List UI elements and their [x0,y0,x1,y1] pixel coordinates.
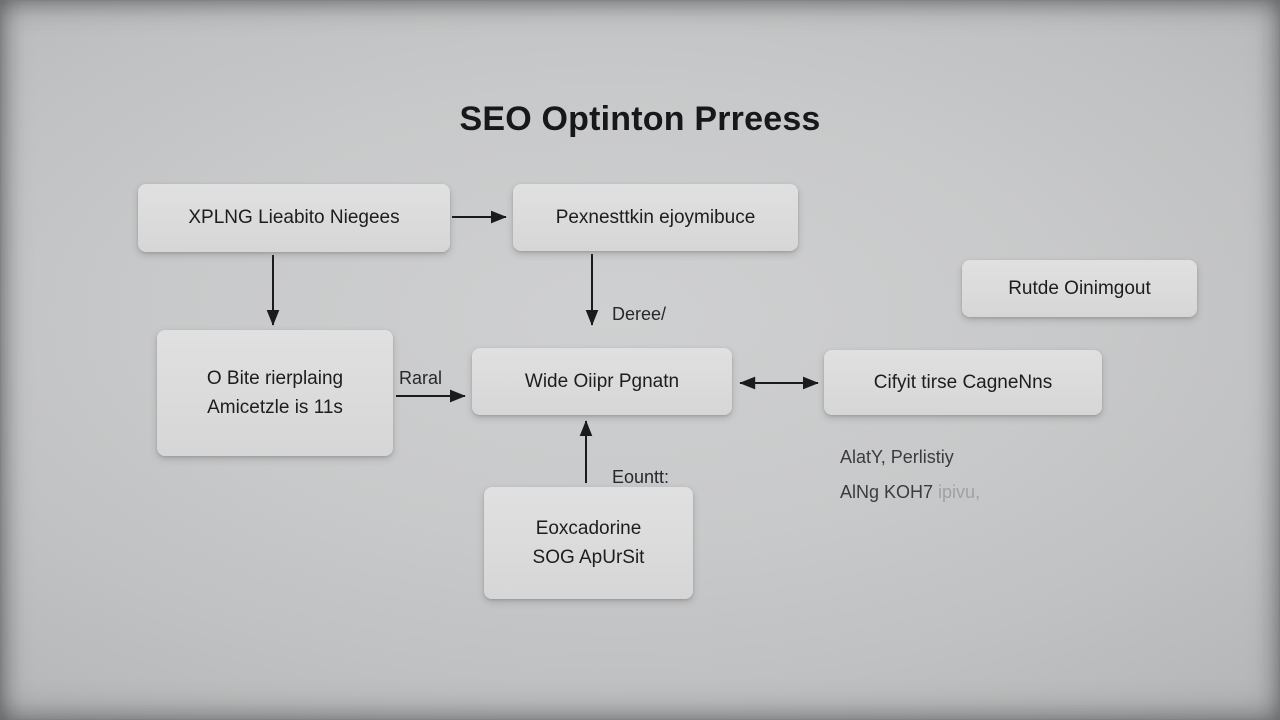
node-side-optimization[interactable]: Rutde Oinimgout [962,260,1197,317]
node-label-line-1: O Bite rierplaing [207,364,343,393]
node-keyword-research[interactable]: XPLNG Lieabito Niegees [138,184,450,252]
edge-label-deree: Deree/ [612,304,666,325]
float-text-line-2: AlNg KOH7 ipivu, [840,475,980,510]
node-backlinks[interactable]: Eoxcadorine SOG ApUrSit [484,487,693,599]
node-main-process[interactable]: Wide Oiipr Pgnatn [472,348,732,415]
node-content-audit[interactable]: Pexnesttkin ejoymibuce [513,184,798,251]
edge-label-eountt: Eountt: [612,467,669,488]
float-text-notes: AlatY, Perlistiy AlNg KOH7 ipivu, [840,440,980,510]
page-title: SEO Optinton Prreess [0,100,1280,139]
node-label: XPLNG Lieabito Niegees [188,203,399,232]
node-on-page[interactable]: O Bite rierplaing Amicetzle is 11s [157,330,393,456]
node-label-line-2: SOG ApUrSit [533,543,645,572]
node-label-line-2: Amicetzle is 11s [207,393,343,422]
float-text-line-2-faded: ipivu, [938,482,980,502]
float-text-line-2-main: AlNg KOH7 [840,482,938,502]
node-label: Wide Oiipr Pgnatn [525,367,679,396]
float-text-line-1: AlatY, Perlistiy [840,440,980,475]
node-label: Cifyit tirse CagneNns [874,368,1052,397]
edge-label-raral: Raral [399,368,442,389]
node-analytics[interactable]: Cifyit tirse CagneNns [824,350,1102,415]
node-label: Pexnesttkin ejoymibuce [556,203,756,232]
node-label-line-1: Eoxcadorine [536,514,642,543]
diagram-canvas: SEO Optinton Prreess XPLNG Lieabito Nieg… [0,0,1280,720]
node-label: Rutde Oinimgout [1008,274,1151,303]
